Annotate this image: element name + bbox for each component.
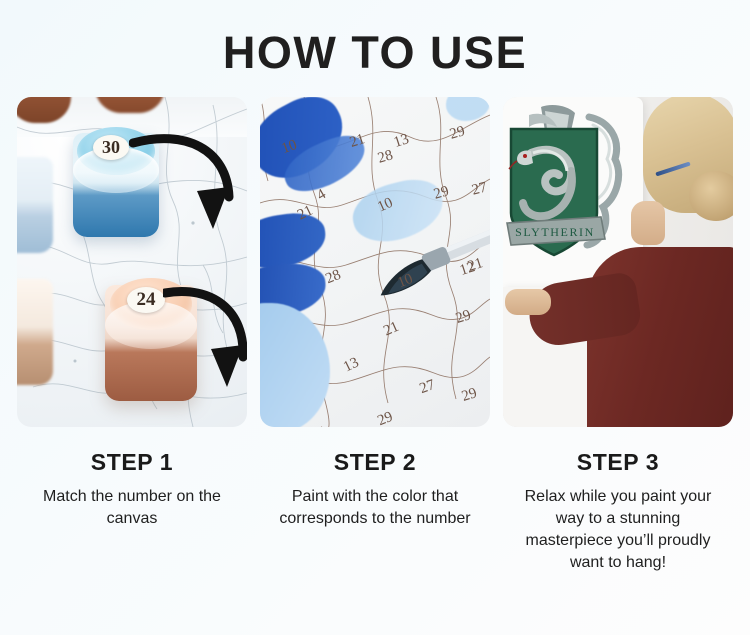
canvas-number: 10 bbox=[375, 195, 396, 217]
step-1-title: STEP 1 bbox=[91, 449, 173, 476]
how-to-use-infographic: HOW TO USE bbox=[0, 0, 750, 635]
curved-arrow-icon-bottom bbox=[163, 283, 247, 399]
canvas-number: 10 bbox=[395, 271, 415, 292]
step-3-photo: SLYTHERIN bbox=[503, 97, 733, 427]
canvas-number: 28 bbox=[376, 147, 395, 167]
raised-hand bbox=[631, 201, 665, 245]
step-2-description: Paint with the color that corresponds to… bbox=[268, 486, 483, 530]
canvas-number: 29 bbox=[448, 123, 467, 143]
step-3-title: STEP 3 bbox=[577, 449, 659, 476]
canvas-number: 29 bbox=[375, 409, 395, 427]
page-title: HOW TO USE bbox=[0, 0, 750, 75]
canvas-number: 29 bbox=[454, 307, 474, 328]
canvas-number-labels: 10 21 28 13 29 4 21 29 27 10 28 10 12 21… bbox=[260, 97, 490, 427]
canvas-number: 13 bbox=[392, 131, 412, 152]
slytherin-crest-artwork: SLYTHERIN bbox=[505, 105, 627, 273]
canvas-number: 21 bbox=[348, 131, 368, 152]
step-card-2: 10 21 28 13 29 4 21 29 27 10 28 10 12 21… bbox=[260, 97, 490, 574]
step-card-1: 30 24 STEP 1 Match the number on the can… bbox=[17, 97, 247, 574]
steps-row: 30 24 STEP 1 Match the number on the can… bbox=[0, 97, 750, 574]
background-pot-left-blue bbox=[17, 157, 53, 253]
step-card-3: SLYTHERIN STEP 3 Relax while you paint y… bbox=[503, 97, 733, 574]
canvas-number: 21 bbox=[295, 203, 316, 225]
paint-pot-number-30: 30 bbox=[93, 135, 129, 160]
canvas-number: 4 bbox=[314, 186, 329, 204]
canvas-number: 10 bbox=[280, 137, 300, 158]
step-3-description: Relax while you paint your way to a stun… bbox=[511, 486, 726, 574]
crest-banner-text: SLYTHERIN bbox=[515, 225, 595, 239]
lower-hand bbox=[505, 289, 551, 315]
paint-pot-number-24: 24 bbox=[127, 287, 165, 313]
step-1-photo: 30 24 bbox=[17, 97, 247, 427]
canvas-number: 27 bbox=[418, 377, 438, 398]
canvas-number: 21 bbox=[381, 319, 402, 341]
canvas-number: 28 bbox=[323, 267, 343, 288]
canvas-number: 13 bbox=[341, 355, 362, 377]
canvas-number: 29 bbox=[460, 385, 480, 406]
canvas-number: 29 bbox=[432, 183, 451, 203]
background-pot-left-cream bbox=[17, 279, 53, 385]
curved-arrow-icon-top bbox=[129, 131, 241, 239]
step-2-title: STEP 2 bbox=[334, 449, 416, 476]
canvas-number: 27 bbox=[470, 179, 489, 199]
step-2-photo: 10 21 28 13 29 4 21 29 27 10 28 10 12 21… bbox=[260, 97, 490, 427]
step-1-description: Match the number on the canvas bbox=[25, 486, 240, 530]
